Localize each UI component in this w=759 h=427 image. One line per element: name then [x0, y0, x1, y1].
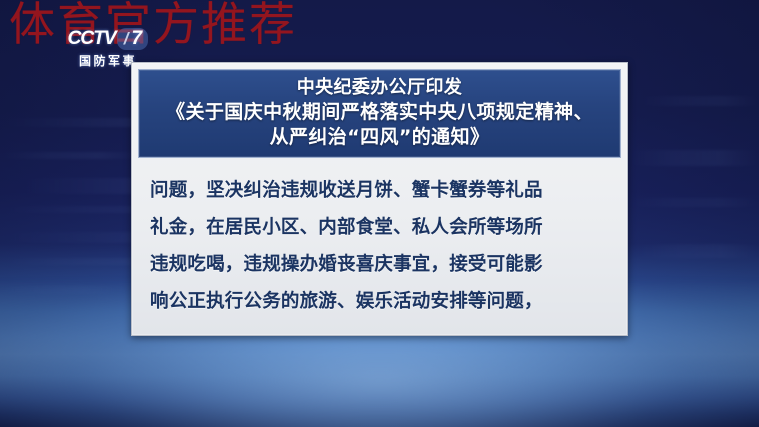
document-body-line-3: 违规吃喝，违规操办婚丧喜庆事宜，接受可能影 [150, 246, 611, 283]
channel-number: 7 [132, 28, 143, 50]
document-title-line-2: 《关于国庆中秋期间严格落实中央八项规定精神、 [166, 100, 593, 125]
channel-logo-row: CCTV / 7 [48, 28, 168, 50]
document-body-line-4: 响公正执行公务的旅游、娱乐活动安排等问题， [150, 283, 611, 320]
document-title-line-1: 中央纪委办公厅印发 [297, 75, 463, 100]
document-body-line-1: 问题，坚决纠治违规收送月饼、蟹卡蟹券等礼品 [150, 172, 611, 209]
document-card-body: 问题，坚决纠治违规收送月饼、蟹卡蟹券等礼品 礼金，在居民小区、内部食堂、私人会所… [138, 158, 621, 320]
broadcast-screen: 体育官方推荐 CCTV / 7 国防军事 中央纪委办公厅印发 《关于国庆中秋期间… [0, 0, 759, 427]
slash-icon: / [124, 29, 129, 49]
channel-number-badge: / 7 [117, 28, 148, 50]
document-title-line-3: 从严纠治“四风”的通知》 [270, 125, 490, 150]
document-card: 中央纪委办公厅印发 《关于国庆中秋期间严格落实中央八项规定精神、 从严纠治“四风… [131, 62, 628, 336]
cctv-wordmark: CCTV [67, 28, 115, 50]
document-card-header: 中央纪委办公厅印发 《关于国庆中秋期间严格落实中央八项规定精神、 从严纠治“四风… [138, 69, 621, 158]
document-body-line-2: 礼金，在居民小区、内部食堂、私人会所等场所 [150, 209, 611, 246]
